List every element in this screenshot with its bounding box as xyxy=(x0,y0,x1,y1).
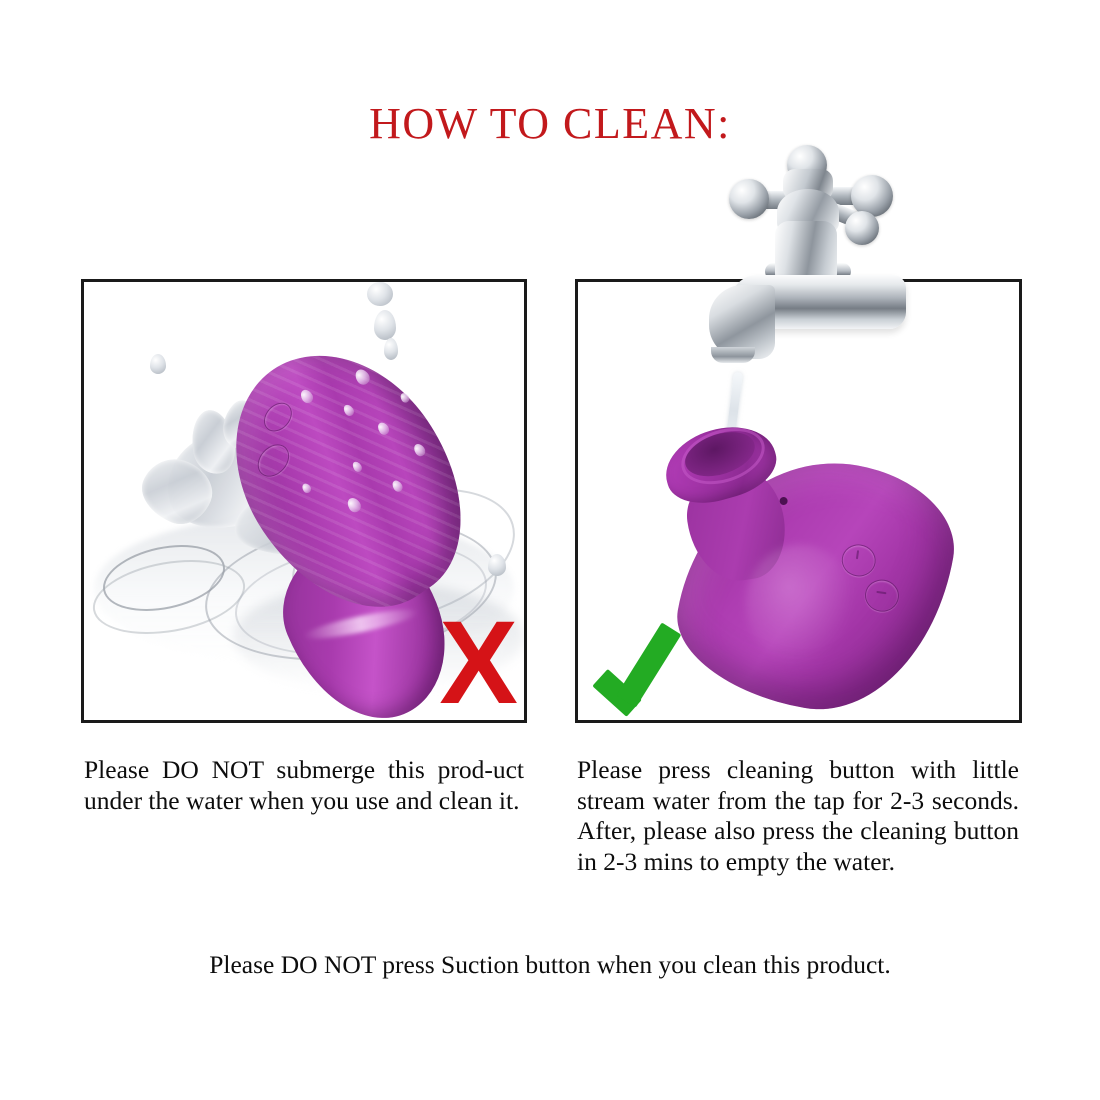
faucet-handle-knob xyxy=(729,179,769,219)
product-device-rinsing xyxy=(659,419,969,719)
check-mark-icon xyxy=(596,620,696,712)
caption-right: Please press cleaning button with little… xyxy=(577,755,1019,877)
page-title: HOW TO CLEAN: xyxy=(0,98,1100,149)
panel-do-not-submerge: X xyxy=(81,279,527,723)
caption-left: Please DO NOT submerge this prod-uct und… xyxy=(84,755,524,816)
faucet-handle-knob xyxy=(845,211,879,245)
water-droplet-icon xyxy=(150,354,166,374)
right-scene xyxy=(578,282,1019,720)
x-mark-icon: X xyxy=(439,604,518,720)
panel-rinse-under-tap xyxy=(575,279,1022,723)
check-stroke xyxy=(616,622,681,707)
footer-note: Please DO NOT press Suction button when … xyxy=(0,950,1100,980)
left-scene: X xyxy=(84,282,524,720)
